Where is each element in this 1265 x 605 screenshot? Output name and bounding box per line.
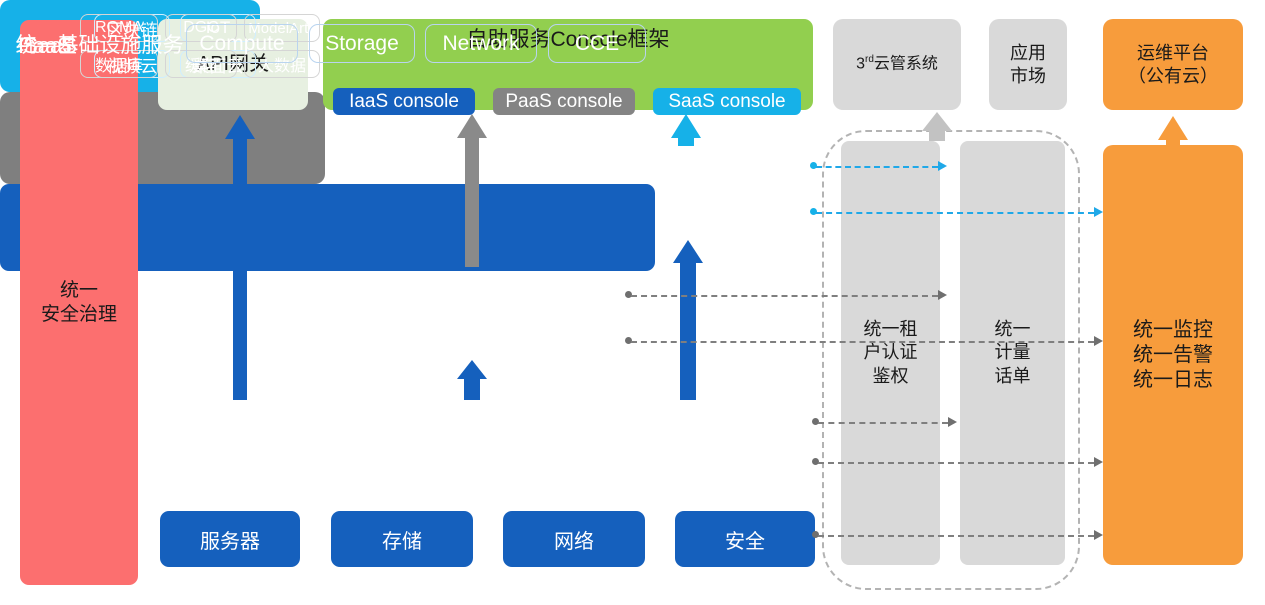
resource-box-server[interactable]: 服务器 [160, 511, 300, 567]
security-governance-column: 统一 安全治理 [20, 20, 138, 585]
connector-infra-to-auth [818, 422, 948, 424]
connector-arrow-resources-ops [1094, 530, 1103, 540]
arrow-infra-to-saas [673, 240, 703, 400]
architecture-diagram: 统一 安全治理 API网关 自助服务Console框架 IaaS console… [0, 0, 1265, 605]
unified-metering-column: 统一 计量 话单 [960, 141, 1065, 565]
unified-tenant-auth-column: 统一租 户认证 鉴权 [841, 141, 940, 565]
arrow-infra-to-paas [457, 360, 487, 400]
connector-resources-to-ops [818, 535, 1094, 537]
ops-platform-box: 运维平台 （公有云） [1103, 19, 1243, 110]
infra-chip-cce[interactable]: CCE [548, 24, 646, 63]
third-party-cloud-mgmt-box: 3rd云管系统 [833, 19, 961, 110]
connector-arrow-paas-auth [938, 290, 947, 300]
paas-console-pill[interactable]: PaaS console [493, 88, 635, 115]
app-market-box: 应用 市场 [989, 19, 1067, 110]
third-party-ordinal-sup: rd [865, 54, 874, 65]
connector-arrow-saas-auth [938, 161, 947, 171]
connector-paas-to-ops [631, 341, 1094, 343]
saas-console-pill[interactable]: SaaS console [653, 88, 801, 115]
connector-infra-to-ops [818, 462, 1094, 464]
connector-arrow-paas-ops [1094, 336, 1103, 346]
resource-box-security[interactable]: 安全 [675, 511, 815, 567]
arrow-ops-stack-to-ops-platform [1158, 116, 1188, 145]
connector-saas-to-auth [816, 166, 938, 168]
arrow-saas-to-console [671, 114, 701, 146]
infra-chip-storage[interactable]: Storage [309, 24, 415, 63]
ops-monitoring-column: 统一监控 统一告警 统一日志 [1103, 145, 1243, 565]
connector-arrow-saas-ops [1094, 207, 1103, 217]
connector-paas-to-auth [631, 295, 938, 297]
iaas-console-pill[interactable]: IaaS console [333, 88, 475, 115]
third-party-suffix: 云管系统 [874, 56, 938, 73]
infra-chip-compute[interactable]: Compute [186, 24, 298, 63]
resource-box-network[interactable]: 网络 [503, 511, 645, 567]
infrastructure-label: 统一基础设施服务 [12, 29, 187, 59]
third-party-cloud-mgmt-label: 3rd云管系统 [856, 54, 938, 74]
resource-box-storage[interactable]: 存储 [331, 511, 473, 567]
third-party-prefix: 3 [856, 56, 865, 73]
connector-saas-to-ops [816, 212, 1094, 214]
infra-chip-network[interactable]: Network [425, 24, 537, 63]
connector-arrow-infra-auth [948, 417, 957, 427]
connector-arrow-infra-ops [1094, 457, 1103, 467]
